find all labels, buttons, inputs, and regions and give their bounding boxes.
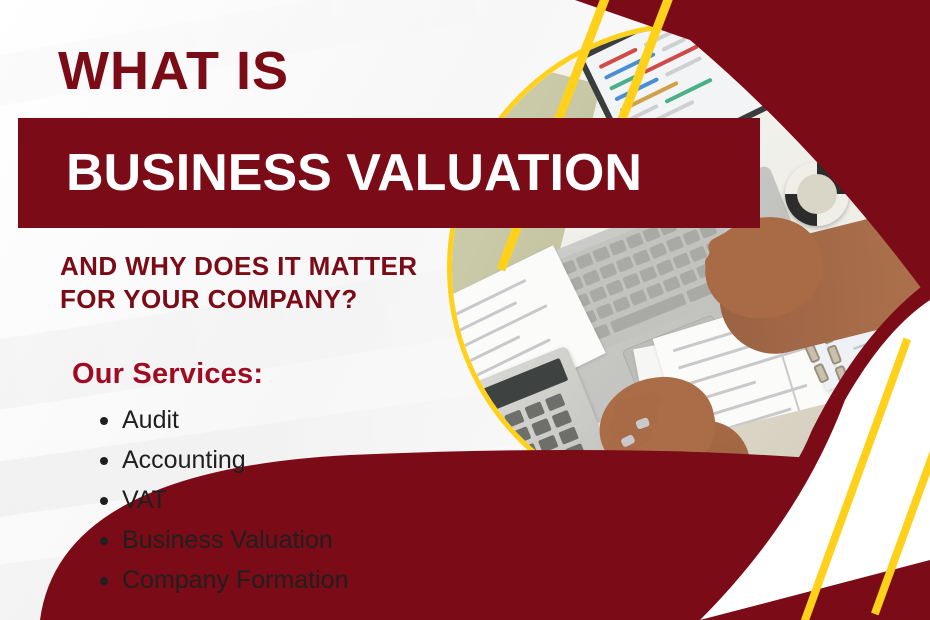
desk-photo (447, 22, 930, 514)
business-valuation-banner: WHAT IS BUSINESS VALUATION AND WHY DOES … (0, 0, 930, 620)
decorative-bowl-shape (785, 162, 849, 226)
list-item: Company Formation (100, 560, 348, 600)
eyebrow-text: WHAT IS (58, 44, 289, 98)
subtitle-line-1: AND WHY DOES IT MATTER (60, 250, 417, 283)
page-title: BUSINESS VALUATION (66, 143, 642, 203)
services-heading: Our Services: (72, 358, 263, 391)
services-list: Audit Accounting VAT Business Valuation … (76, 400, 348, 600)
subtitle-line-2: FOR YOUR COMPANY? (60, 283, 417, 316)
list-item: Business Valuation (100, 520, 348, 560)
list-item: Audit (100, 400, 348, 440)
list-item: Accounting (100, 440, 348, 480)
desk-photo-circle (447, 22, 930, 514)
list-item: VAT (100, 480, 348, 520)
title-band: BUSINESS VALUATION (18, 118, 760, 228)
subtitle: AND WHY DOES IT MATTER FOR YOUR COMPANY? (60, 250, 417, 317)
